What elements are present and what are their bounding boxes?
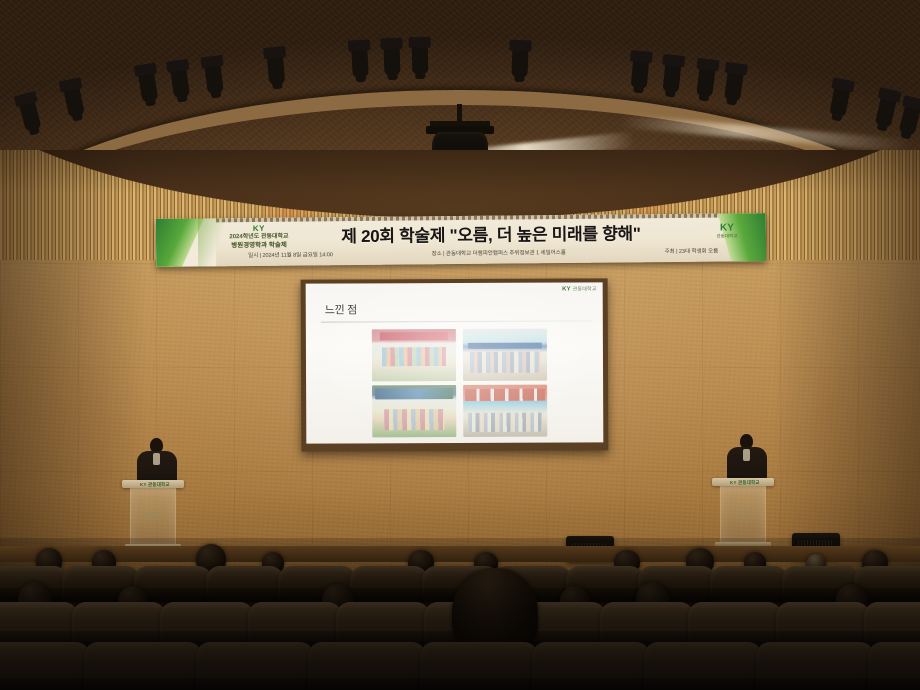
banner-left-line2: 병원경영학과 학술제: [200, 241, 318, 250]
auditorium-scene: KY 2024학년도 관동대학교 병원경영학과 학술제 제 20회 학술제 "오…: [0, 0, 920, 690]
banner-department-block: KY 2024학년도 관동대학교 병원경영학과 학술제: [200, 223, 318, 250]
spotlight-icon: [351, 47, 369, 78]
spotlight-icon: [412, 44, 429, 74]
audience-seat: [756, 642, 874, 690]
podium-left-logo: KY 관동대학교: [140, 482, 170, 488]
slide-title-underline: [321, 320, 593, 322]
spotlight-icon: [631, 57, 650, 88]
projection-screen-frame: KY 관동대학교 느낀 점: [301, 278, 609, 451]
spotlight-icon: [511, 47, 528, 78]
audience-seat: [868, 642, 920, 690]
podium-right-body: KY: [720, 486, 766, 544]
podium-right-logo: KY 관동대학교: [730, 480, 760, 486]
banner-ky-logo-right: KY: [704, 222, 750, 233]
audience-seat: [308, 642, 426, 690]
banner-university-name-right: 관동대학교: [704, 233, 750, 239]
slide-photo-4: [463, 385, 547, 437]
projection-screen: KY 관동대학교 느낀 점: [306, 282, 604, 443]
presenter-left-shirt: [153, 453, 160, 465]
audience-seat: [350, 566, 428, 602]
banner-university-logo-right: KY 관동대학교: [704, 222, 750, 252]
audience-seat: [532, 642, 650, 690]
banner-footer-info: 일시 | 2024년 11월 8일 금요일 14:00 장소 | 관동대학교 더…: [248, 247, 718, 260]
presenter-right-body: [727, 447, 767, 480]
slide-university-name: 관동대학교: [573, 286, 597, 292]
spotlight-icon: [662, 61, 681, 93]
audience-seat: [84, 642, 202, 690]
podium-right-top: KY 관동대학교: [712, 478, 774, 486]
presenter-right: [726, 434, 768, 484]
audience-seat: [206, 566, 284, 602]
audience-seat: [0, 642, 90, 690]
slide-ky-logo: KY: [562, 286, 571, 292]
audience-seat: [644, 642, 762, 690]
podium-left-emblem: KY: [144, 509, 160, 524]
slide-photo-collage: [372, 329, 547, 438]
presenter-right-shirt: [743, 449, 750, 461]
audience-seat: [196, 642, 314, 690]
event-banner: KY 2024학년도 관동대학교 병원경영학과 학술제 제 20회 학술제 "오…: [156, 213, 766, 267]
audience-seat: [420, 642, 538, 690]
spotlight-icon: [383, 45, 400, 76]
slide-university-logo: KY 관동대학교: [562, 285, 597, 292]
slide-title: 느낀 점: [325, 301, 357, 317]
banner-main-title: 제 20회 학술제 "오름, 더 높은 미래를 향해": [306, 219, 676, 248]
slide-photo-2: [463, 329, 547, 381]
podium-left-top: KY 관동대학교: [122, 480, 184, 488]
slide-photo-1: [372, 329, 456, 381]
audience-seating: [0, 538, 920, 690]
audience-seat: [710, 566, 788, 602]
slide-photo-3: [372, 385, 456, 437]
podium-right-emblem: KY: [734, 507, 750, 522]
banner-place: 장소 | 관동대학교 더챔피언캠퍼스 추위정보관 1 세일어스홀: [432, 248, 566, 257]
spotlight-icon: [267, 53, 286, 84]
banner-date: 일시 | 2024년 11월 8일 금요일 14:00: [248, 250, 333, 259]
